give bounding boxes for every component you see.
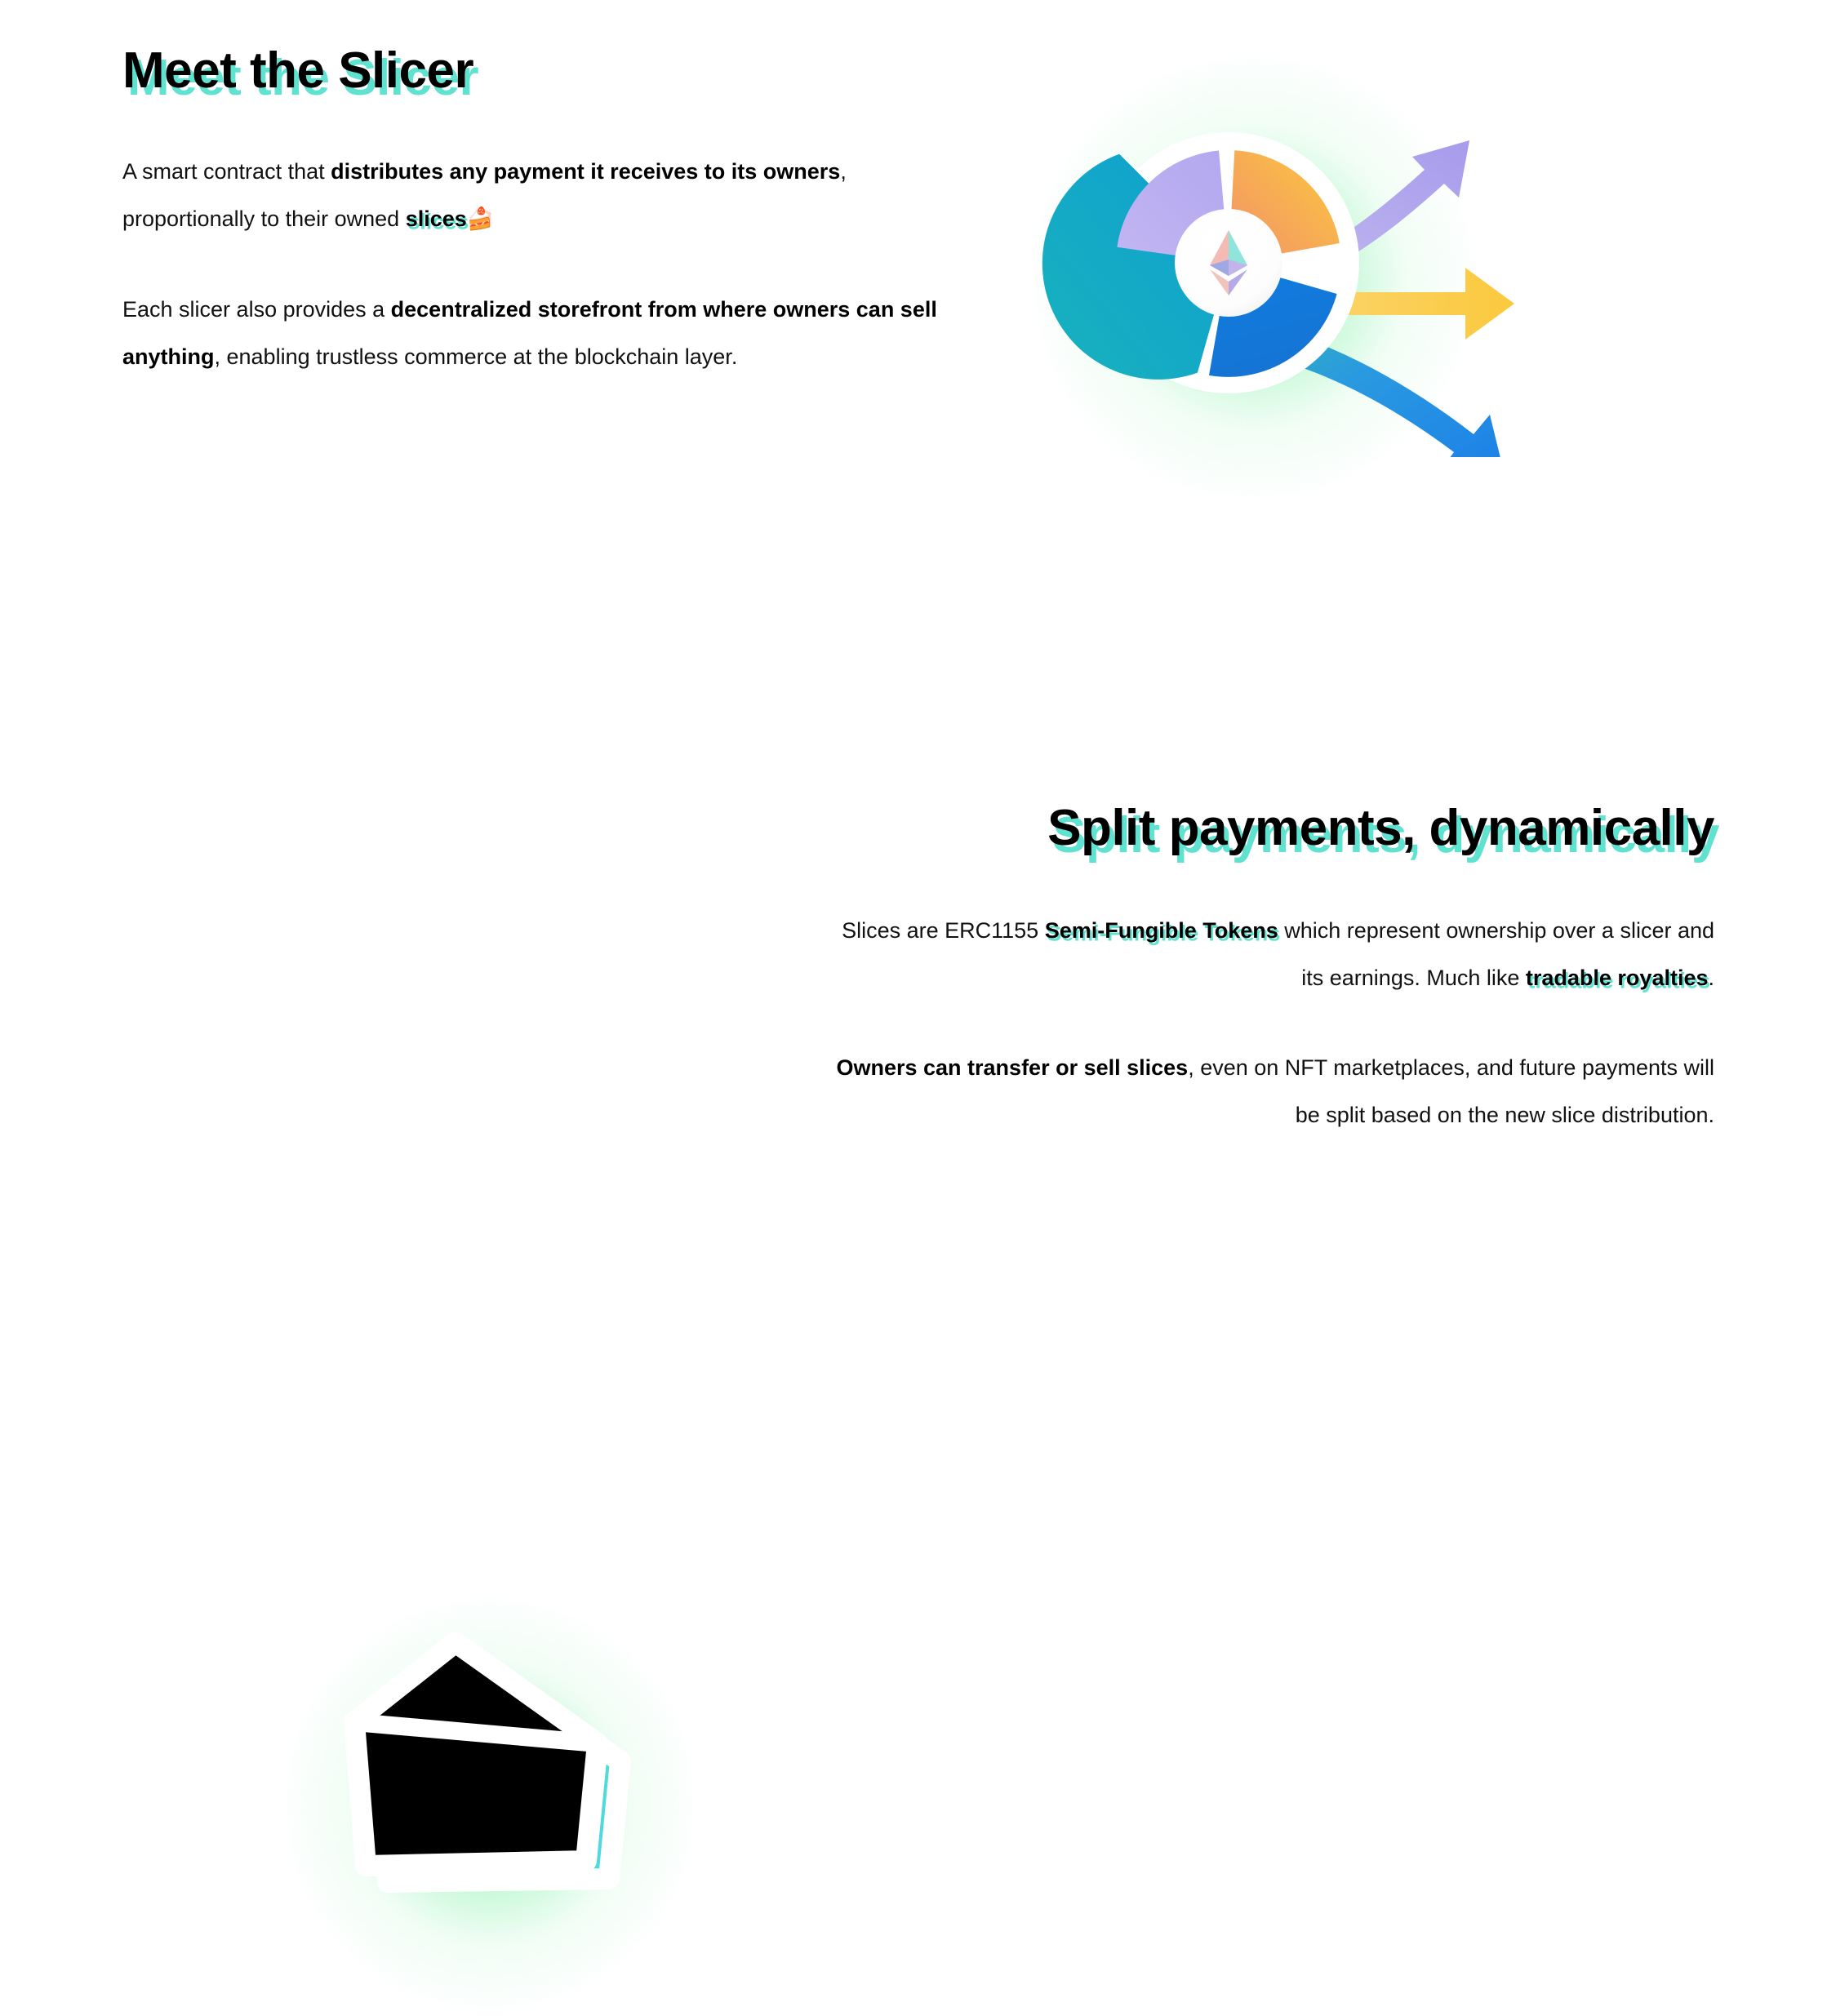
emphasis-bold: distributes any payment it receives to i… (331, 159, 840, 184)
text-run: , enabling trustless commerce at the blo… (215, 344, 738, 369)
cake-front-shape (354, 1642, 598, 1866)
section-1-paragraph-1: A smart contract that distributes any pa… (122, 148, 947, 243)
emphasis-bold: Owners can transfer or sell slices (836, 1055, 1188, 1080)
landing-page: Meet the Slicer A smart contract that di… (0, 0, 1827, 1278)
section-split-payments: Split payments, dynamically Slices are E… (0, 767, 1827, 1278)
slicer-illustration (992, 65, 1710, 457)
section-2-paragraph-2: Owners can transfer or sell slices, even… (825, 1044, 1714, 1139)
emphasis-highlight: slices (406, 206, 467, 231)
section-1-text-column: Meet the Slicer A smart contract that di… (122, 42, 947, 380)
slicer-pie-svg (992, 65, 1710, 457)
cake-slice-svg (269, 1592, 727, 2016)
cake-emoji-icon: 🍰 (467, 206, 495, 232)
emphasis-highlight: Semi-Fungible Tokens (1045, 918, 1278, 943)
section-meet-the-slicer: Meet the Slicer A smart contract that di… (0, 0, 1827, 522)
text-run: , even on NFT marketplaces, and future p… (1188, 1055, 1714, 1127)
text-run: A smart contract that (122, 159, 331, 184)
text-run: Each slicer also provides a (122, 297, 391, 322)
section-2-text-column: Split payments, dynamically Slices are E… (825, 800, 1714, 1139)
cake-slice-illustration (269, 1592, 727, 2016)
page-title: Meet the Slicer (122, 42, 947, 99)
text-run: Slices are ERC1155 (842, 918, 1045, 943)
section-1-paragraph-2: Each slicer also provides a decentralize… (122, 286, 947, 380)
section-2-paragraph-1: Slices are ERC1155 Semi-Fungible Tokens … (825, 907, 1714, 1001)
section-2-title: Split payments, dynamically (825, 800, 1714, 856)
text-run: . (1708, 966, 1714, 990)
emphasis-highlight: tradable royalties (1526, 966, 1709, 990)
